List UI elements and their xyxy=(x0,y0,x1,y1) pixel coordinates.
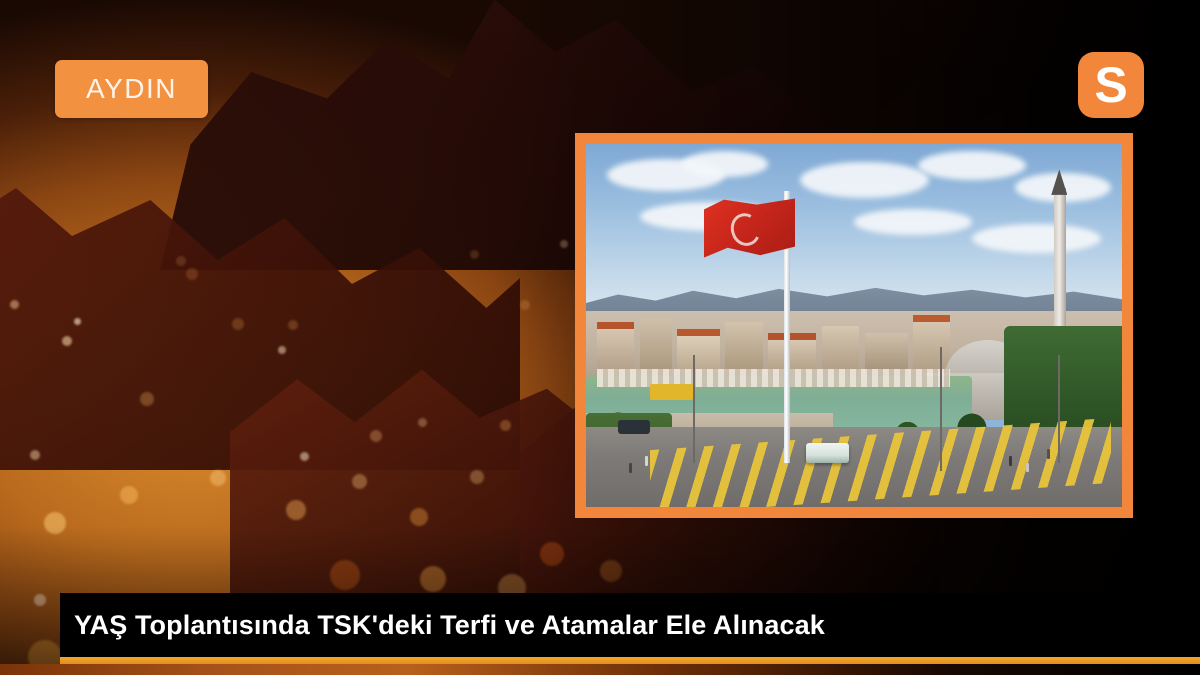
headline-bar[interactable]: YAŞ Toplantısında TSK'deki Terfi ve Atam… xyxy=(60,593,1200,657)
building xyxy=(913,318,951,376)
roof xyxy=(677,329,720,336)
cloud xyxy=(918,151,1025,180)
accent-underline xyxy=(60,657,1200,664)
roof xyxy=(768,333,816,340)
bottom-strip xyxy=(0,664,1200,675)
yellow-bus xyxy=(650,384,693,400)
light-pole xyxy=(940,347,942,470)
parked-car xyxy=(618,420,650,435)
cloud xyxy=(854,209,972,234)
site-logo-letter: S xyxy=(1094,60,1127,110)
roof xyxy=(913,315,951,322)
pedestrian xyxy=(629,463,632,473)
site-logo-icon[interactable]: S xyxy=(1078,52,1144,118)
photo-frame[interactable] xyxy=(575,133,1133,518)
pedestrian xyxy=(1009,456,1012,466)
building xyxy=(640,318,672,376)
minibus xyxy=(806,443,849,463)
pedestrian xyxy=(1047,449,1050,459)
cloud xyxy=(972,224,1101,253)
light-pole xyxy=(693,355,695,464)
headline-text: YAŞ Toplantısında TSK'deki Terfi ve Atam… xyxy=(60,610,825,641)
city-badge-label: AYDIN xyxy=(86,73,177,105)
roof xyxy=(597,322,635,329)
news-photo xyxy=(586,144,1122,507)
news-card: AYDIN S xyxy=(0,0,1200,675)
cloud xyxy=(682,151,768,176)
pedestrian xyxy=(1026,463,1029,472)
pedestrian xyxy=(645,456,648,466)
city-badge[interactable]: AYDIN xyxy=(55,60,208,118)
light-pole xyxy=(1058,355,1060,464)
